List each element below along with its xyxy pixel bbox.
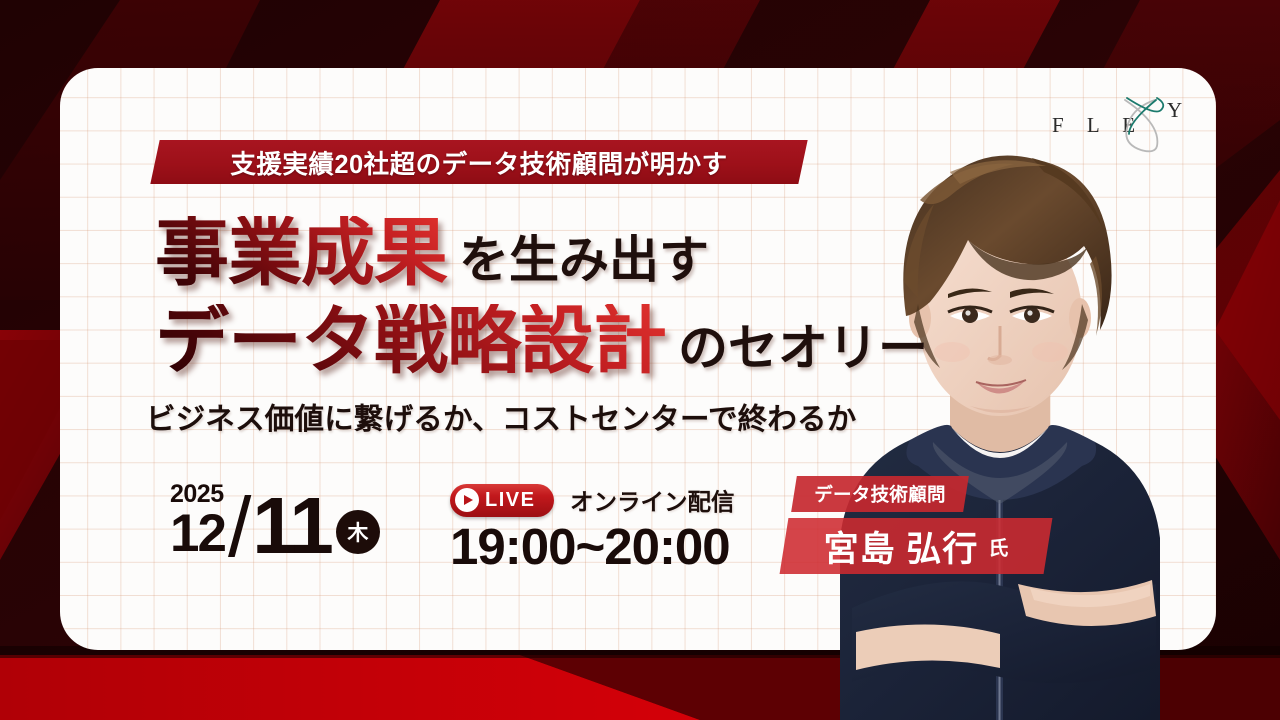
date-separator: / — [228, 495, 251, 561]
flexy-infinity-icon: Y — [1115, 94, 1185, 154]
tag-banner-label: 支援実績20社超のデータ技術顧問が明かす — [155, 140, 803, 184]
headline-subtitle: ビジネス価値に繋げるか、コストセンターで終わるか — [146, 396, 856, 438]
flexy-logo-last-letter: Y — [1167, 98, 1182, 122]
event-month: 12 — [170, 510, 225, 559]
weekday-badge: 木 — [336, 510, 380, 554]
headline-highlight-2: データ戦略設計 — [155, 304, 668, 378]
speaker-name-label: 宮島 弘行 氏 — [784, 518, 1048, 574]
event-time-block: LIVE オンライン配信 19:00~20:00 — [450, 482, 735, 572]
headline-line-1: 事業成果 を生み出す — [155, 204, 855, 290]
live-row: LIVE オンライン配信 — [450, 482, 735, 518]
event-date: 2025 12 / 11 木 — [170, 482, 382, 559]
flexy-logo: F L E Y — [1052, 94, 1192, 154]
headline-rest-1: を生み出す — [459, 235, 709, 285]
live-badge: LIVE — [450, 484, 554, 517]
headline-line-2: データ戦略設計 のセオリー — [155, 292, 855, 378]
year-month-group: 2025 12 — [170, 482, 225, 559]
delivery-method: オンライン配信 — [570, 483, 735, 517]
headline-highlight-1: 事業成果 — [155, 216, 449, 290]
speaker-photo — [800, 68, 1220, 720]
event-day: 11 — [252, 492, 331, 559]
speaker-name-text: 宮島 弘行 — [824, 521, 979, 572]
event-time: 19:00~20:00 — [450, 521, 735, 572]
headline-rest-2: のセオリー — [678, 323, 928, 373]
headline: 事業成果 を生み出す データ戦略設計 のセオリー — [155, 204, 855, 378]
speaker-portrait-illustration — [800, 68, 1220, 720]
play-icon — [455, 488, 479, 512]
live-label: LIVE — [485, 489, 535, 512]
speaker-name-honorific: 氏 — [988, 532, 1008, 561]
event-date-block: 2025 12 / 11 木 — [170, 482, 382, 559]
speaker-role-label: データ技術顧問 — [794, 476, 966, 512]
